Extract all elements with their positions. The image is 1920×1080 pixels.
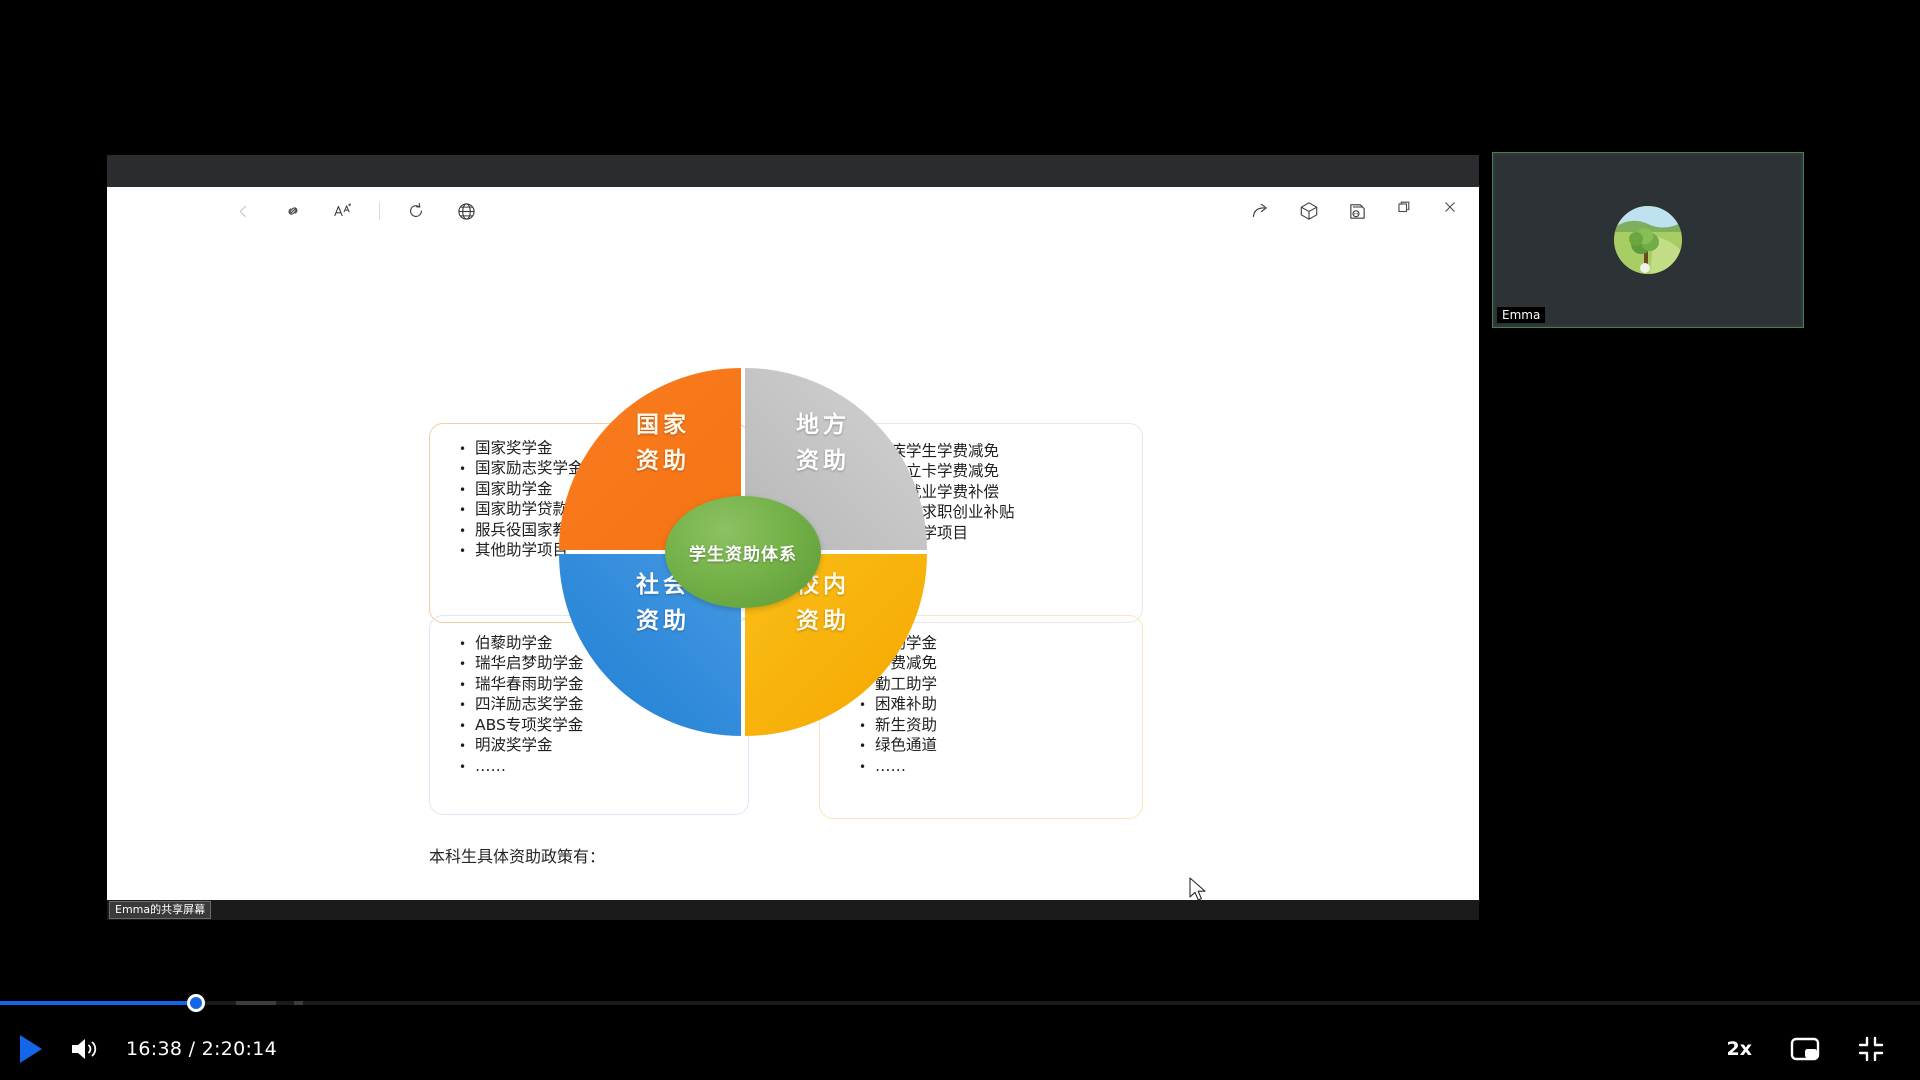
exit-fullscreen-button[interactable] <box>1858 1036 1884 1062</box>
wheel-hub-label: 学生资助体系 <box>689 540 797 565</box>
collections-icon[interactable] <box>1343 197 1371 225</box>
reader-toolbar-left <box>229 197 480 225</box>
progress-track <box>0 1001 1920 1005</box>
slide-caption: 本科生具体资助政策有： <box>429 843 605 867</box>
read-aloud-icon[interactable] <box>329 197 357 225</box>
list-item: •明波奖学金 <box>459 735 584 755</box>
back-icon[interactable] <box>229 197 257 225</box>
progress-thumb[interactable] <box>187 994 205 1012</box>
bullet-dot: • <box>459 503 475 519</box>
progress-bar[interactable] <box>0 994 1920 1012</box>
reader-toolbar <box>107 187 1479 243</box>
progress-buffer-b <box>294 1001 304 1005</box>
cube-icon[interactable] <box>1295 197 1323 225</box>
list-item: •…… <box>859 756 937 776</box>
list-item: •…… <box>459 756 584 776</box>
video-player-bar: 16:38 / 2:20:14 2x <box>0 988 1920 1080</box>
time-display: 16:38 / 2:20:14 <box>126 1038 277 1060</box>
share-status-label: Emma的共享屏幕 <box>109 901 211 918</box>
participant-tile[interactable]: Emma <box>1493 153 1803 327</box>
reader-toolbar-right <box>1247 197 1371 225</box>
pip-button[interactable] <box>1790 1036 1820 1062</box>
bullet-dot: • <box>459 698 475 714</box>
toolbar-divider <box>379 202 380 220</box>
progress-buffer-a <box>236 1001 276 1005</box>
window-titlebar[interactable] <box>107 155 1479 187</box>
globe-icon[interactable] <box>452 197 480 225</box>
share-status-bar: Emma的共享屏幕 <box>107 900 1479 920</box>
bullet-dot: • <box>459 544 475 560</box>
avatar <box>1614 206 1682 274</box>
slide-canvas: •国家奖学金 •国家励志奖学金 •国家助学金 •国家助学贷款 •服兵役国家教育资… <box>107 243 1479 900</box>
play-button[interactable] <box>18 1034 44 1064</box>
shared-browser-window: •国家奖学金 •国家励志奖学金 •国家助学金 •国家助学贷款 •服兵役国家教育资… <box>107 155 1479 900</box>
bullet-dot: • <box>459 739 475 755</box>
list-item: •绿色通道 <box>859 735 937 755</box>
bullet-dot: • <box>859 760 875 776</box>
bullet-dot: • <box>459 637 475 653</box>
link-icon[interactable] <box>279 197 307 225</box>
player-controls: 16:38 / 2:20:14 2x <box>0 1018 1920 1080</box>
shared-screen-stage: •国家奖学金 •国家励志奖学金 •国家助学金 •国家助学贷款 •服兵役国家教育资… <box>107 155 1479 920</box>
bullet-dot: • <box>459 678 475 694</box>
mouse-cursor <box>1189 877 1209 900</box>
progress-fill <box>0 1001 196 1005</box>
volume-button[interactable] <box>70 1036 100 1062</box>
bullet-dot: • <box>859 739 875 755</box>
bullet-dot: • <box>459 719 475 735</box>
speed-button[interactable]: 2x <box>1727 1038 1752 1060</box>
refresh-icon[interactable] <box>402 197 430 225</box>
wheel-hub: 学生资助体系 <box>665 496 821 608</box>
participant-name: Emma <box>1497 307 1545 323</box>
bullet-dot: • <box>459 462 475 478</box>
funding-wheel-diagram: 国家 资助 地方 资助 社会 资助 校内 资助 <box>559 368 927 736</box>
bullet-dot: • <box>459 442 475 458</box>
bullet-dot: • <box>459 483 475 499</box>
app-root: •国家奖学金 •国家励志奖学金 •国家助学金 •国家助学贷款 •服兵役国家教育资… <box>0 0 1920 1080</box>
player-controls-right: 2x <box>1727 1036 1884 1062</box>
bullet-dot: • <box>459 657 475 673</box>
share-icon[interactable] <box>1247 197 1275 225</box>
bullet-dot: • <box>459 760 475 776</box>
bullet-dot: • <box>459 524 475 540</box>
player-controls-left: 16:38 / 2:20:14 <box>18 1034 277 1064</box>
